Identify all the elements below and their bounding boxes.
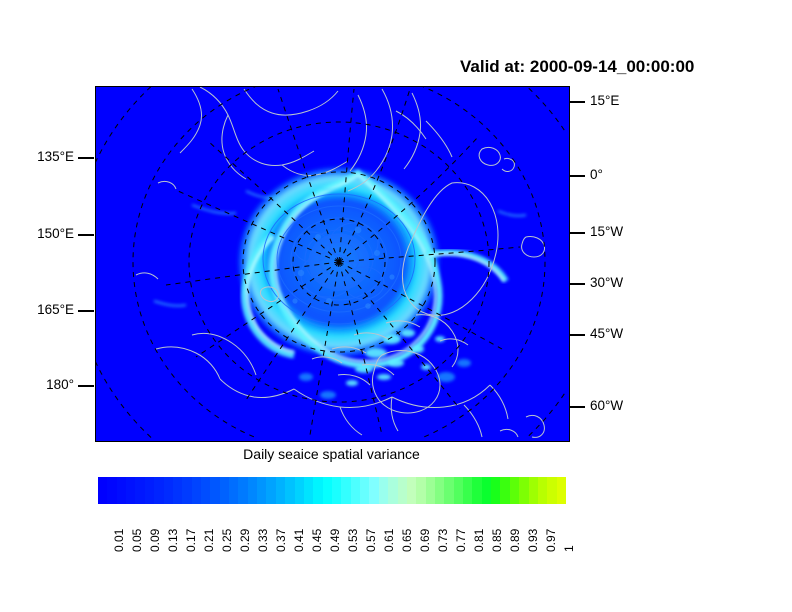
colorbar-tick-label: 0.45 [310,529,324,552]
left-axis-tick [78,310,94,312]
right-axis-label: 45°W [590,326,623,341]
colorbar-band [238,477,247,504]
colorbar-band [107,477,116,504]
left-axis-tick [78,157,94,159]
right-axis-tick [569,232,585,234]
colorbar-band [472,477,481,504]
colorbar-band [323,477,332,504]
colorbar-band [210,477,219,504]
colorbar-band [482,477,491,504]
colorbar-tick-label: 0.61 [382,529,396,552]
colorbar-band [173,477,182,504]
colorbar-tick-label: 0.81 [472,529,486,552]
colorbar-band [398,477,407,504]
right-axis-tick [569,334,585,336]
colorbar[interactable] [98,477,566,504]
colorbar-tick-label: 0.89 [508,529,522,552]
left-axis-label: 150°E [0,226,74,241]
colorbar-tick-label: 0.21 [202,529,216,552]
colorbar-band [285,477,294,504]
colorbar-band [491,477,500,504]
colorbar-tick-label: 0.05 [130,529,144,552]
colorbar-band [229,477,238,504]
right-axis-tick [569,406,585,408]
colorbar-tick-label: 0.01 [112,529,126,552]
colorbar-band [435,477,444,504]
right-axis-tick [569,101,585,103]
colorbar-band [510,477,519,504]
colorbar-tick-label: 0.25 [220,529,234,552]
colorbar-tick-label: 0.13 [166,529,180,552]
colorbar-tick-label: 0.29 [238,529,252,552]
colorbar-band [98,477,107,504]
colorbar-band [257,477,266,504]
colorbar-band [304,477,313,504]
colorbar-band [145,477,154,504]
page-title: Valid at: 2000-09-14_00:00:00 [460,57,694,77]
colorbar-tick-label: 0.57 [364,529,378,552]
colorbar-band [220,477,229,504]
colorbar-band [519,477,528,504]
colorbar-tick-label: 0.77 [454,529,468,552]
right-axis-tick [569,175,585,177]
colorbar-band [351,477,360,504]
colorbar-tick-label: 0.73 [436,529,450,552]
colorbar-band [454,477,463,504]
colorbar-tick-label: 0.85 [490,529,504,552]
left-axis-tick [78,234,94,236]
colorbar-band [529,477,538,504]
colorbar-band [547,477,556,504]
colorbar-tick-label: 0.49 [328,529,342,552]
colorbar-band [182,477,191,504]
colorbar-band [557,477,566,504]
colorbar-band [538,477,547,504]
colorbar-band [126,477,135,504]
colorbar-band [248,477,257,504]
colorbar-tick-label: 1 [562,545,576,552]
right-axis-label: 15°W [590,224,623,239]
colorbar-tick-label: 0.33 [256,529,270,552]
colorbar-tick-label: 0.53 [346,529,360,552]
right-axis-tick [569,283,585,285]
colorbar-band [379,477,388,504]
colorbar-tick-label: 0.41 [292,529,306,552]
colorbar-band [117,477,126,504]
colorbar-band [332,477,341,504]
colorbar-band [164,477,173,504]
colorbar-band [295,477,304,504]
colorbar-band [313,477,322,504]
colorbar-band [341,477,350,504]
colorbar-band [154,477,163,504]
colorbar-band [500,477,509,504]
colorbar-tick-label: 0.17 [184,529,198,552]
right-axis-label: 15°E [590,93,619,108]
colorbar-band [276,477,285,504]
colorbar-tick-label: 0.65 [400,529,414,552]
colorbar-band [369,477,378,504]
colorbar-tick-label: 0.93 [526,529,540,552]
right-axis-label: 30°W [590,275,623,290]
colorbar-band [388,477,397,504]
colorbar-band [266,477,275,504]
colorbar-band [407,477,416,504]
right-axis-label: 60°W [590,398,623,413]
colorbar-band [201,477,210,504]
figure-canvas: Valid at: 2000-09-14_00:00:00 [0,0,792,612]
colorbar-tick-label: 0.37 [274,529,288,552]
plot-caption: Daily seaice spatial variance [95,446,568,462]
colorbar-tick-label: 0.09 [148,529,162,552]
colorbar-band [360,477,369,504]
colorbar-band [444,477,453,504]
left-axis-label: 165°E [0,302,74,317]
colorbar-tick-labels: 0.010.050.090.130.170.210.250.290.330.37… [98,508,566,568]
map-svg [96,87,566,438]
left-axis-label: 180° [0,377,74,392]
right-axis-label: 0° [590,167,603,182]
left-axis-tick [78,385,94,387]
colorbar-band [135,477,144,504]
left-axis-label: 135°E [0,149,74,164]
colorbar-band [426,477,435,504]
colorbar-tick-label: 0.69 [418,529,432,552]
colorbar-tick-label: 0.97 [544,529,558,552]
colorbar-band [463,477,472,504]
colorbar-band [416,477,425,504]
map-plot-area[interactable] [95,86,570,442]
colorbar-band [192,477,201,504]
